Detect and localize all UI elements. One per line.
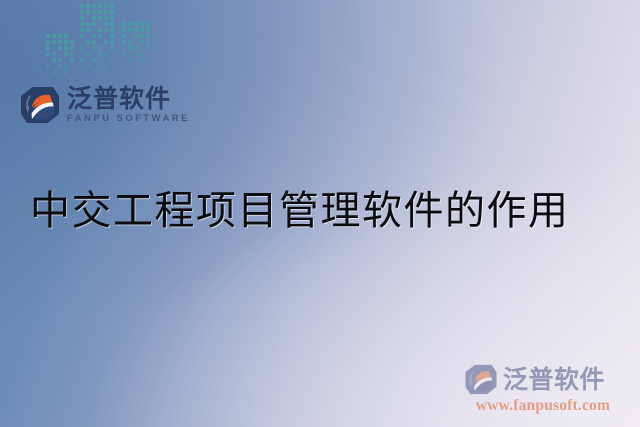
watermark: 泛普软件 www.fanpusoft.com bbox=[464, 364, 622, 415]
watermark-logo-row: 泛普软件 bbox=[464, 364, 622, 395]
banner-canvas: 泛普软件 FANPU SOFTWARE 中交工程项目管理软件的作用 泛普软件 w… bbox=[0, 0, 640, 427]
fanpu-hexagon-logo-watermark-icon bbox=[464, 364, 498, 395]
brand-wordmark: 泛普软件 FANPU SOFTWARE bbox=[67, 86, 190, 124]
brand-name-cn: 泛普软件 bbox=[67, 86, 190, 111]
brand-logo-lockup: 泛普软件 FANPU SOFTWARE bbox=[20, 86, 190, 124]
brand-name-en: FANPU SOFTWARE bbox=[67, 114, 190, 124]
page-title: 中交工程项目管理软件的作用 bbox=[30, 178, 570, 236]
watermark-name-cn: 泛普软件 bbox=[503, 367, 605, 392]
fanpu-hexagon-logo-icon bbox=[20, 86, 60, 124]
watermark-url: www.fanpusoft.com bbox=[464, 397, 622, 415]
